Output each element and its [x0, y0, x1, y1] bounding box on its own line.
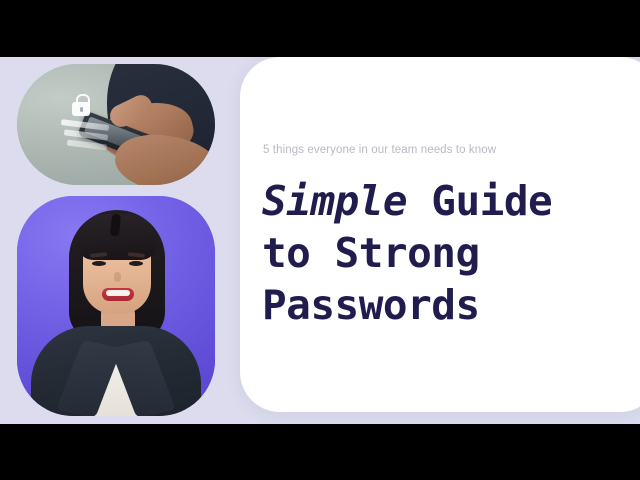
content-card-body: 5 things everyone in our team needs to k…	[262, 143, 632, 331]
slide-title-line-2: to Strong	[262, 227, 632, 279]
slide-title-accent-word: Simple	[262, 177, 407, 225]
padlock-icon	[72, 94, 90, 116]
slide-title-line-1: Simple Guide	[262, 175, 632, 227]
slide-title-line-1-rest: Guide	[407, 177, 552, 225]
media-column	[17, 64, 215, 416]
photo-presenter-portrait	[17, 196, 215, 416]
slide-title: Simple Guide to Strong Passwords	[262, 175, 632, 331]
video-frame: 5 things everyone in our team needs to k…	[0, 0, 640, 480]
slide-eyebrow: 5 things everyone in our team needs to k…	[263, 143, 632, 157]
content-card: 5 things everyone in our team needs to k…	[240, 57, 640, 412]
padlock-keyhole	[80, 107, 83, 112]
portrait-eye-left	[92, 261, 106, 266]
letterbox-bar-bottom	[0, 424, 640, 480]
portrait-teeth	[106, 290, 130, 296]
portrait-nose	[114, 272, 121, 282]
slide-canvas: 5 things everyone in our team needs to k…	[0, 57, 640, 424]
photo-phone-security	[17, 64, 215, 185]
letterbox-bar-top	[0, 0, 640, 57]
slide-title-line-3: Passwords	[262, 279, 632, 331]
portrait-eye-right	[129, 261, 143, 266]
